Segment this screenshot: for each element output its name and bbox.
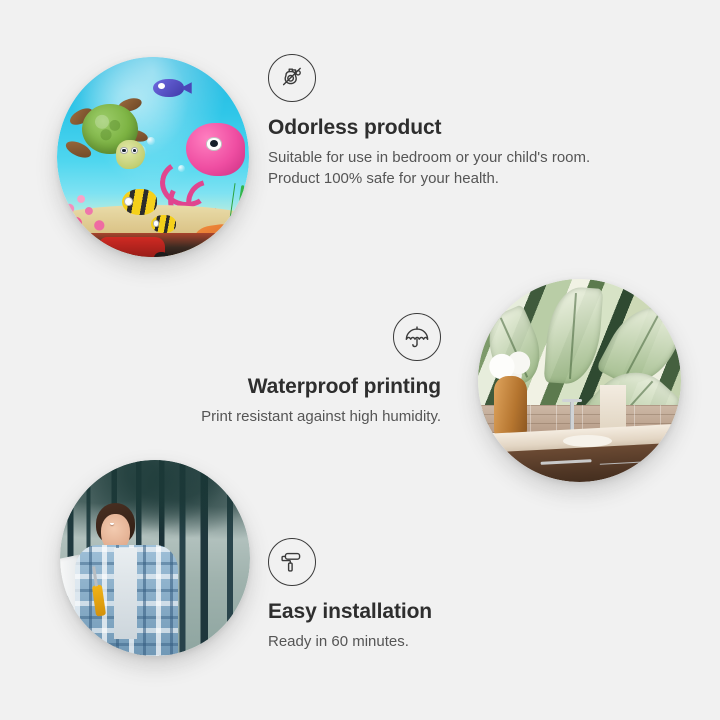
pink-coral	[59, 181, 124, 241]
blue-fish	[153, 79, 184, 97]
no-odor-spray-bottle-icon	[268, 54, 316, 102]
paint-roller-icon	[268, 538, 316, 586]
installer-scene	[60, 460, 250, 656]
turtle-eye	[131, 147, 138, 154]
umbrella-icon	[393, 313, 441, 361]
feature-title: Waterproof printing	[141, 375, 441, 399]
plaid-shirt	[75, 545, 178, 656]
smile	[110, 523, 113, 525]
feature-title: Odorless product	[268, 116, 598, 140]
bathroom-scene	[478, 279, 681, 482]
woman-installer	[75, 503, 178, 656]
feature-description: Print resistant against high humidity.	[141, 406, 441, 427]
feature-description: Suitable for use in bedroom or your chil…	[268, 147, 598, 190]
feature-highlights-panel: Odorless product Suitable for use in bed…	[0, 0, 720, 720]
sea-turtle	[70, 97, 154, 179]
feature-description: Ready in 60 minutes.	[268, 631, 432, 652]
pink-octopus	[165, 123, 246, 215]
turtle-head	[116, 140, 145, 170]
yellow-striped-fish	[151, 215, 176, 233]
red-toy-car	[99, 237, 164, 257]
image-bathroom-tropical-wallpaper[interactable]	[478, 279, 681, 482]
feature-installation: Easy installation Ready in 60 minutes.	[268, 538, 432, 652]
feature-waterproof: Waterproof printing Print resistant agai…	[141, 313, 441, 427]
image-installer-woman-forest-mural[interactable]	[60, 460, 250, 656]
image-underwater-cartoon-mural[interactable]	[57, 57, 249, 257]
turtle-eye	[120, 147, 127, 154]
underwater-scene	[57, 57, 249, 257]
octopus-eye	[206, 137, 223, 151]
feature-odorless: Odorless product Suitable for use in bed…	[268, 54, 598, 190]
feature-title: Easy installation	[268, 600, 432, 624]
yellow-striped-fish	[122, 189, 157, 215]
